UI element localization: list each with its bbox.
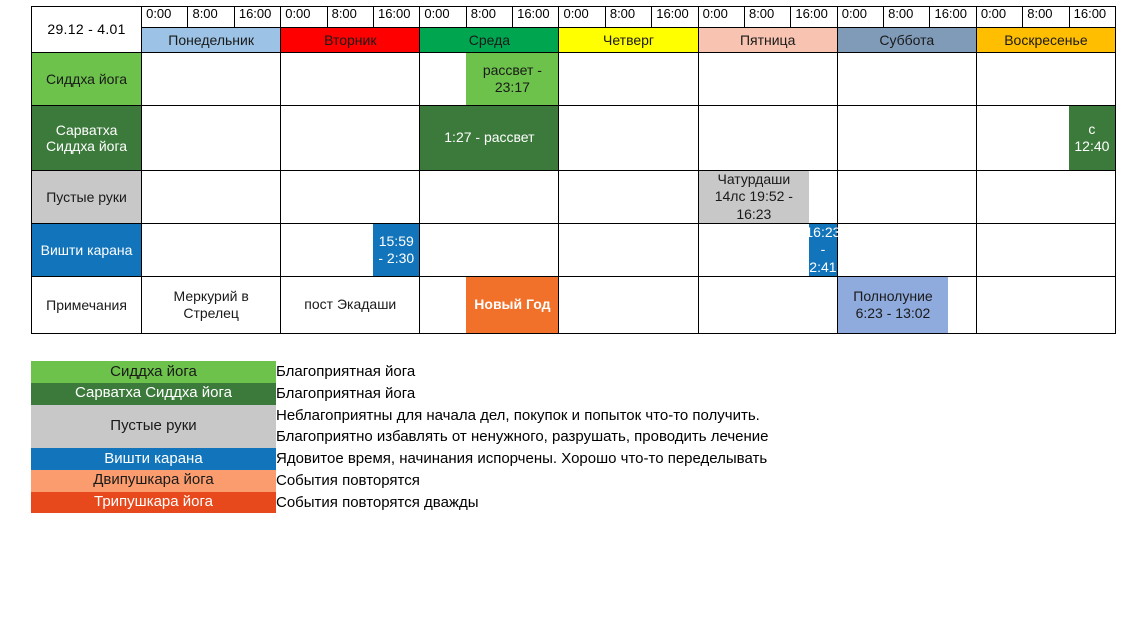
- schedule-cell[interactable]: [281, 171, 420, 224]
- schedule-entry[interactable]: Новый Год: [466, 277, 558, 333]
- legend-row: Сарватха Сиддха йогаБлагоприятная йога: [31, 383, 769, 405]
- hour-tick-label: 16:00: [373, 7, 419, 27]
- hour-tick-group: 0:008:0016:00: [976, 7, 1115, 28]
- schedule-cell[interactable]: [976, 171, 1115, 224]
- schedule-entry-label: 1:27 - рассвет: [444, 129, 534, 147]
- weekly-panchang-table: 29.12 - 4.010:008:0016:000:008:0016:000:…: [31, 6, 1116, 334]
- schedule-cell[interactable]: [698, 277, 837, 334]
- weekday-header-6[interactable]: Воскресенье: [976, 28, 1115, 53]
- schedule-entry-label: с 12:40: [1071, 121, 1113, 156]
- hour-tick-label: 0:00: [699, 7, 744, 27]
- hour-tick-label: 0:00: [559, 7, 604, 27]
- schedule-cell[interactable]: с 12:40: [976, 106, 1115, 171]
- schedule-cell[interactable]: [142, 224, 281, 277]
- legend-row: Вишти каранаЯдовитое время, начинания ис…: [31, 448, 769, 470]
- weekday-header-4[interactable]: Пятница: [698, 28, 837, 53]
- hour-tick-label: 8:00: [883, 7, 929, 27]
- hour-tick-label: 8:00: [187, 7, 233, 27]
- row-label-4: Примечания: [32, 277, 142, 334]
- legend-description-3: Ядовитое время, начинания испорчены. Хор…: [276, 448, 769, 470]
- hour-tick-label: 0:00: [420, 7, 465, 27]
- schedule-cell[interactable]: рассвет - 23:17: [420, 53, 559, 106]
- hour-tick-group: 0:008:0016:00: [281, 7, 420, 28]
- schedule-entry-label: рассвет - 23:17: [468, 62, 556, 97]
- schedule-cell[interactable]: [559, 224, 698, 277]
- hour-tick-label: 8:00: [744, 7, 790, 27]
- schedule-cell[interactable]: [559, 53, 698, 106]
- schedule-entry[interactable]: пост Экадаши: [281, 277, 419, 333]
- hour-tick-label: 16:00: [929, 7, 975, 27]
- schedule-cell[interactable]: [142, 106, 281, 171]
- legend-swatch-4: Двипушкара йога: [31, 470, 276, 492]
- row-label-1: Сарватха Сиддха йога: [32, 106, 142, 171]
- legend-description-4: События повторятся: [276, 470, 769, 492]
- legend-description-2: Неблагоприятны для начала дел, покупок и…: [276, 405, 769, 449]
- schedule-cell[interactable]: [976, 53, 1115, 106]
- hour-tick-label: 8:00: [466, 7, 512, 27]
- schedule-cell[interactable]: [837, 224, 976, 277]
- schedule-cell[interactable]: [698, 106, 837, 171]
- schedule-entry[interactable]: с 12:40: [1069, 106, 1115, 170]
- schedule-entry[interactable]: 1:27 - рассвет: [420, 106, 558, 170]
- table-row: Вишти карана15:59 - 2:3016:23 - 2:41: [32, 224, 1116, 277]
- schedule-cell[interactable]: Новый Год: [420, 277, 559, 334]
- legend-description-0: Благоприятная йога: [276, 361, 769, 383]
- schedule-entry[interactable]: 15:59 - 2:30: [373, 224, 419, 276]
- schedule-entry[interactable]: Чатурдаши 14лс 19:52 - 16:23: [699, 171, 810, 223]
- schedule-cell[interactable]: Чатурдаши 14лс 19:52 - 16:23: [698, 171, 837, 224]
- schedule-entry[interactable]: рассвет - 23:17: [466, 53, 558, 105]
- schedule-entry-label: Чатурдаши 14лс 19:52 - 16:23: [701, 171, 808, 224]
- schedule-cell[interactable]: [698, 53, 837, 106]
- hour-tick-label: 8:00: [327, 7, 373, 27]
- legend-swatch-0: Сиддха йога: [31, 361, 276, 383]
- weekday-header-3[interactable]: Четверг: [559, 28, 698, 53]
- hour-tick-group: 0:008:0016:00: [142, 7, 281, 28]
- hour-tick-label: 0:00: [281, 7, 326, 27]
- schedule-cell[interactable]: Меркурий в Стрелец: [142, 277, 281, 334]
- schedule-cell[interactable]: 16:23 - 2:41: [698, 224, 837, 277]
- hour-tick-label: 16:00: [512, 7, 558, 27]
- schedule-cell[interactable]: пост Экадаши: [281, 277, 420, 334]
- table-row: Сиддха йогарассвет - 23:17: [32, 53, 1116, 106]
- row-label-2: Пустые руки: [32, 171, 142, 224]
- table-row: Пустые рукиЧатурдаши 14лс 19:52 - 16:23: [32, 171, 1116, 224]
- schedule-cell[interactable]: [976, 277, 1115, 334]
- legend-swatch-5: Трипушкара йога: [31, 492, 276, 514]
- schedule-cell[interactable]: [976, 224, 1115, 277]
- schedule-cell[interactable]: 1:27 - рассвет: [420, 106, 559, 171]
- row-label-3: Вишти карана: [32, 224, 142, 277]
- hour-tick-label: 8:00: [605, 7, 651, 27]
- legend-row: Трипушкара йогаСобытия повторятся дважды: [31, 492, 769, 514]
- schedule-cell[interactable]: [837, 171, 976, 224]
- hour-tick-label: 0:00: [142, 7, 187, 27]
- schedule-cell[interactable]: [420, 171, 559, 224]
- legend-row: Пустые рукиНеблагоприятны для начала дел…: [31, 405, 769, 449]
- legend-row: Сиддха йогаБлагоприятная йога: [31, 361, 769, 383]
- schedule-entry[interactable]: 16:23 - 2:41: [809, 224, 837, 276]
- weekday-header-5[interactable]: Суббота: [837, 28, 976, 53]
- hour-tick-label: 16:00: [1069, 7, 1115, 27]
- hour-tick-label: 8:00: [1022, 7, 1068, 27]
- legend-description-5: События повторятся дважды: [276, 492, 769, 514]
- hour-tick-label: 16:00: [651, 7, 697, 27]
- schedule-entry-label: 16:23 - 2:41: [805, 224, 840, 277]
- schedule-cell[interactable]: [837, 106, 976, 171]
- hour-tick-label: 16:00: [234, 7, 280, 27]
- table-row: ПримечанияМеркурий в Стрелецпост Экадаши…: [32, 277, 1116, 334]
- schedule-entry[interactable]: Полнолуние 6:23 - 13:02: [838, 277, 949, 333]
- legend-table: Сиддха йогаБлагоприятная йогаСарватха Си…: [31, 361, 769, 513]
- date-range-header: 29.12 - 4.01: [32, 7, 142, 53]
- weekday-header-0[interactable]: Понедельник: [142, 28, 281, 53]
- schedule-cell[interactable]: [559, 171, 698, 224]
- schedule-cell[interactable]: 15:59 - 2:30: [281, 224, 420, 277]
- weekday-header-1[interactable]: Вторник: [281, 28, 420, 53]
- schedule-entry[interactable]: Меркурий в Стрелец: [142, 277, 280, 333]
- weekday-header-2[interactable]: Среда: [420, 28, 559, 53]
- schedule-cell[interactable]: [420, 224, 559, 277]
- calendar-table-container: 29.12 - 4.010:008:0016:000:008:0016:000:…: [31, 6, 1116, 334]
- legend-swatch-3: Вишти карана: [31, 448, 276, 470]
- schedule-cell[interactable]: [559, 277, 698, 334]
- hour-tick-label: 0:00: [977, 7, 1022, 27]
- schedule-cell[interactable]: [142, 171, 281, 224]
- schedule-entry-label: пост Экадаши: [304, 296, 396, 314]
- row-label-0: Сиддха йога: [32, 53, 142, 106]
- schedule-entry-label: Новый Год: [474, 296, 550, 314]
- hour-tick-group: 0:008:0016:00: [698, 7, 837, 28]
- legend-container: Сиддха йогаБлагоприятная йогаСарватха Си…: [31, 361, 769, 513]
- hour-tick-label: 16:00: [790, 7, 836, 27]
- schedule-cell[interactable]: Полнолуние 6:23 - 13:02: [837, 277, 976, 334]
- schedule-entry-label: Меркурий в Стрелец: [144, 288, 278, 323]
- schedule-cell[interactable]: [837, 53, 976, 106]
- legend-swatch-1: Сарватха Сиддха йога: [31, 383, 276, 405]
- schedule-entry-label: Полнолуние 6:23 - 13:02: [840, 288, 947, 323]
- schedule-cell[interactable]: [142, 53, 281, 106]
- hour-tick-group: 0:008:0016:00: [837, 7, 976, 28]
- hour-tick-label: 0:00: [838, 7, 883, 27]
- legend-swatch-2: Пустые руки: [31, 405, 276, 449]
- hour-tick-group: 0:008:0016:00: [559, 7, 698, 28]
- legend-row: Двипушкара йогаСобытия повторятся: [31, 470, 769, 492]
- legend-description-1: Благоприятная йога: [276, 383, 769, 405]
- schedule-cell[interactable]: [281, 53, 420, 106]
- schedule-entry-label: 15:59 - 2:30: [375, 233, 417, 268]
- schedule-cell[interactable]: [281, 106, 420, 171]
- schedule-cell[interactable]: [559, 106, 698, 171]
- hour-tick-group: 0:008:0016:00: [420, 7, 559, 28]
- table-row: Сарватха Сиддха йога1:27 - рассветс 12:4…: [32, 106, 1116, 171]
